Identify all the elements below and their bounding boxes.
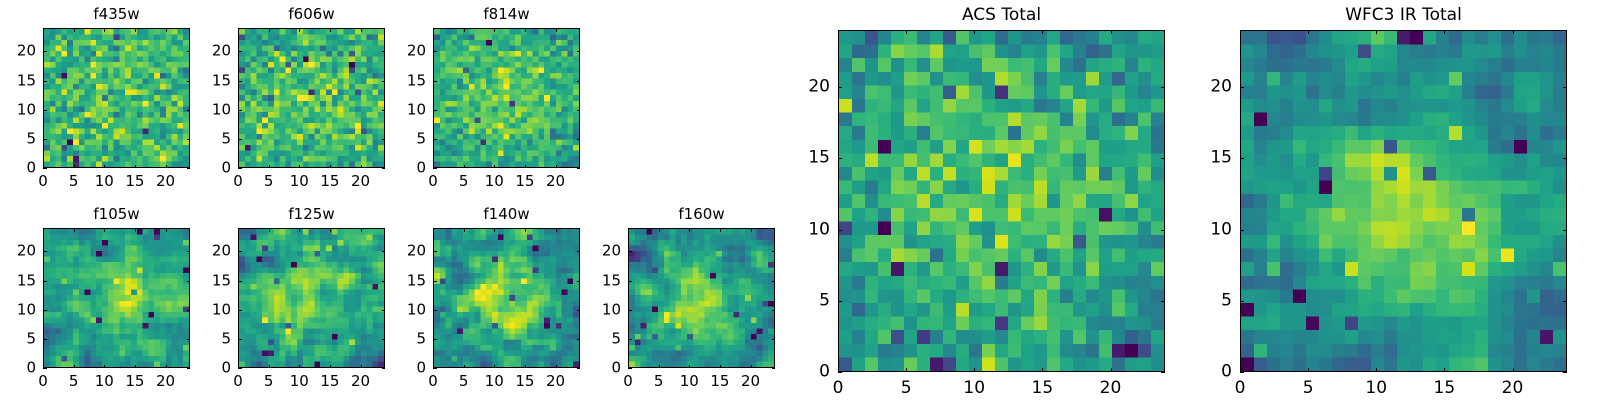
x-tick-label: 5: [1303, 380, 1314, 397]
panel-title: f125w: [238, 207, 385, 222]
y-tick-label: 5: [3, 331, 36, 346]
heatmap-image: [44, 29, 189, 167]
y-tick-mark: [1161, 372, 1165, 373]
y-tick-mark: [1563, 372, 1567, 373]
y-tick-label: 5: [792, 292, 830, 309]
x-tick-label: 10: [290, 374, 309, 389]
y-tick-label: 5: [1194, 292, 1232, 309]
y-tick-mark: [238, 139, 242, 140]
x-tick-mark: [464, 228, 465, 232]
y-tick-mark: [433, 310, 437, 311]
y-tick-mark: [187, 368, 191, 369]
x-tick-mark: [628, 365, 629, 369]
x-tick-mark: [330, 28, 331, 32]
x-tick-label: 15: [710, 374, 729, 389]
x-tick-label: 15: [320, 174, 339, 189]
y-tick-label: 10: [3, 302, 36, 317]
x-tick-label: 15: [320, 374, 339, 389]
x-tick-mark: [433, 165, 434, 169]
y-tick-mark: [238, 339, 242, 340]
y-tick-mark: [772, 281, 776, 282]
x-tick-mark: [689, 228, 690, 232]
x-tick-label: 20: [1502, 380, 1524, 397]
x-tick-mark: [838, 368, 839, 372]
y-tick-mark: [433, 110, 437, 111]
y-tick-mark: [433, 281, 437, 282]
y-tick-mark: [187, 251, 191, 252]
y-tick-mark: [187, 339, 191, 340]
y-tick-mark: [628, 281, 632, 282]
y-tick-mark: [187, 139, 191, 140]
x-tick-mark: [166, 28, 167, 32]
y-tick-mark: [1240, 158, 1244, 159]
x-tick-mark: [689, 365, 690, 369]
x-tick-label: 0: [623, 374, 633, 389]
heatmap-image: [44, 229, 189, 367]
y-tick-mark: [238, 168, 242, 169]
x-tick-label: 10: [1365, 380, 1387, 397]
x-tick-label: 15: [1434, 380, 1456, 397]
panel-f435w: f435w0510152005101520: [0, 0, 1600, 400]
y-tick-label: 0: [198, 161, 231, 176]
x-tick-mark: [1444, 30, 1445, 34]
x-tick-label: 5: [69, 374, 79, 389]
x-tick-mark: [464, 365, 465, 369]
y-tick-mark: [43, 139, 47, 140]
y-tick-mark: [433, 339, 437, 340]
y-tick-label: 10: [198, 102, 231, 117]
y-tick-label: 5: [393, 131, 426, 146]
y-tick-mark: [1240, 372, 1244, 373]
x-tick-mark: [1308, 368, 1309, 372]
x-tick-mark: [135, 365, 136, 369]
x-tick-mark: [74, 228, 75, 232]
x-tick-label: 20: [351, 174, 370, 189]
x-tick-mark: [525, 228, 526, 232]
panel-title: f435w: [43, 7, 190, 22]
x-tick-mark: [1376, 30, 1377, 34]
y-tick-mark: [838, 372, 842, 373]
x-tick-label: 0: [38, 374, 48, 389]
x-tick-label: 0: [38, 174, 48, 189]
y-tick-mark: [238, 251, 242, 252]
x-tick-label: 20: [156, 174, 175, 189]
x-tick-mark: [74, 365, 75, 369]
x-tick-mark: [659, 228, 660, 232]
y-tick-mark: [1563, 230, 1567, 231]
x-tick-label: 0: [428, 374, 438, 389]
y-tick-mark: [772, 368, 776, 369]
y-tick-mark: [43, 339, 47, 340]
y-tick-mark: [382, 110, 386, 111]
y-tick-label: 0: [393, 161, 426, 176]
x-tick-label: 15: [125, 174, 144, 189]
x-tick-mark: [1240, 368, 1241, 372]
x-tick-mark: [1444, 368, 1445, 372]
y-tick-mark: [1161, 301, 1165, 302]
x-tick-mark: [135, 228, 136, 232]
x-tick-mark: [269, 228, 270, 232]
x-tick-mark: [628, 228, 629, 232]
x-tick-mark: [43, 165, 44, 169]
y-tick-mark: [382, 51, 386, 52]
x-tick-mark: [974, 368, 975, 372]
y-tick-label: 5: [198, 331, 231, 346]
y-tick-label: 20: [3, 44, 36, 59]
y-tick-mark: [772, 339, 776, 340]
plot-area: [1240, 30, 1567, 372]
y-tick-mark: [577, 368, 581, 369]
x-tick-mark: [74, 165, 75, 169]
x-tick-mark: [494, 28, 495, 32]
panel-f140w: f140w0510152005101520: [0, 0, 1600, 400]
x-tick-mark: [104, 365, 105, 369]
x-tick-label: 0: [1235, 380, 1246, 397]
y-tick-label: 15: [198, 273, 231, 288]
y-tick-label: 10: [1194, 221, 1232, 238]
y-tick-mark: [1563, 87, 1567, 88]
x-tick-label: 5: [264, 174, 274, 189]
y-tick-label: 10: [3, 102, 36, 117]
x-tick-mark: [1111, 368, 1112, 372]
x-tick-mark: [433, 28, 434, 32]
y-tick-label: 20: [393, 244, 426, 259]
y-tick-mark: [433, 168, 437, 169]
x-tick-mark: [238, 28, 239, 32]
x-tick-mark: [464, 165, 465, 169]
y-tick-mark: [772, 310, 776, 311]
y-tick-label: 15: [588, 273, 621, 288]
x-tick-mark: [238, 365, 239, 369]
y-tick-mark: [577, 110, 581, 111]
x-tick-mark: [974, 30, 975, 34]
x-tick-mark: [1376, 368, 1377, 372]
y-tick-label: 15: [1194, 150, 1232, 167]
x-tick-mark: [1513, 368, 1514, 372]
x-tick-mark: [330, 165, 331, 169]
x-tick-mark: [556, 228, 557, 232]
x-tick-mark: [135, 28, 136, 32]
y-tick-mark: [1240, 301, 1244, 302]
x-tick-mark: [330, 228, 331, 232]
x-tick-mark: [433, 365, 434, 369]
plot-area: [43, 28, 190, 168]
y-tick-mark: [1240, 87, 1244, 88]
y-tick-mark: [433, 81, 437, 82]
x-tick-mark: [299, 28, 300, 32]
y-tick-label: 15: [3, 273, 36, 288]
y-tick-mark: [238, 51, 242, 52]
y-tick-label: 20: [198, 44, 231, 59]
x-tick-mark: [361, 365, 362, 369]
y-tick-mark: [1563, 158, 1567, 159]
y-tick-mark: [187, 81, 191, 82]
y-tick-mark: [43, 251, 47, 252]
x-tick-mark: [525, 28, 526, 32]
panel-wfc3-ir-total: WFC3 IR Total0510152005101520: [0, 0, 1600, 400]
y-tick-mark: [628, 339, 632, 340]
y-tick-mark: [1161, 87, 1165, 88]
y-tick-label: 0: [3, 161, 36, 176]
y-tick-mark: [1161, 158, 1165, 159]
panel-f814w: f814w0510152005101520: [0, 0, 1600, 400]
x-tick-mark: [43, 365, 44, 369]
x-tick-label: 0: [833, 380, 844, 397]
y-tick-mark: [43, 310, 47, 311]
x-tick-mark: [104, 228, 105, 232]
panel-title: ACS Total: [838, 7, 1165, 24]
y-tick-label: 15: [3, 73, 36, 88]
x-tick-label: 15: [1032, 380, 1054, 397]
y-tick-mark: [382, 168, 386, 169]
x-tick-mark: [269, 28, 270, 32]
y-tick-mark: [1240, 230, 1244, 231]
x-tick-label: 10: [95, 374, 114, 389]
x-tick-mark: [720, 365, 721, 369]
plot-area: [433, 28, 580, 168]
panel-f606w: f606w0510152005101520: [0, 0, 1600, 400]
x-tick-mark: [104, 165, 105, 169]
y-tick-mark: [433, 139, 437, 140]
x-tick-label: 20: [741, 374, 760, 389]
y-tick-mark: [838, 158, 842, 159]
x-tick-mark: [464, 28, 465, 32]
x-tick-mark: [43, 228, 44, 232]
x-tick-mark: [299, 228, 300, 232]
y-tick-label: 20: [393, 44, 426, 59]
y-tick-label: 10: [792, 221, 830, 238]
x-tick-mark: [906, 368, 907, 372]
x-tick-label: 5: [654, 374, 664, 389]
y-tick-label: 20: [1194, 79, 1232, 96]
x-tick-mark: [135, 165, 136, 169]
x-tick-label: 10: [485, 374, 504, 389]
y-tick-label: 0: [3, 361, 36, 376]
panel-f125w: f125w0510152005101520: [0, 0, 1600, 400]
x-tick-label: 15: [515, 174, 534, 189]
x-tick-label: 10: [680, 374, 699, 389]
y-tick-mark: [187, 281, 191, 282]
x-tick-mark: [361, 28, 362, 32]
y-tick-mark: [433, 51, 437, 52]
x-tick-label: 20: [1100, 380, 1122, 397]
x-tick-mark: [166, 165, 167, 169]
y-tick-mark: [382, 368, 386, 369]
x-tick-mark: [433, 228, 434, 232]
y-tick-label: 15: [393, 73, 426, 88]
x-tick-mark: [361, 228, 362, 232]
y-tick-mark: [238, 368, 242, 369]
y-tick-label: 10: [198, 302, 231, 317]
panel-title: f814w: [433, 7, 580, 22]
x-tick-label: 5: [264, 374, 274, 389]
x-tick-mark: [556, 28, 557, 32]
y-tick-label: 15: [393, 273, 426, 288]
x-tick-label: 10: [95, 174, 114, 189]
x-tick-mark: [269, 365, 270, 369]
y-tick-mark: [628, 368, 632, 369]
x-tick-mark: [1240, 30, 1241, 34]
x-tick-mark: [556, 165, 557, 169]
y-tick-mark: [187, 168, 191, 169]
x-tick-mark: [166, 365, 167, 369]
x-tick-mark: [494, 228, 495, 232]
y-tick-mark: [577, 51, 581, 52]
x-tick-mark: [659, 365, 660, 369]
heatmap-image: [1241, 31, 1566, 371]
y-tick-label: 5: [3, 131, 36, 146]
y-tick-label: 5: [198, 131, 231, 146]
x-tick-mark: [238, 165, 239, 169]
y-tick-label: 20: [792, 79, 830, 96]
y-tick-mark: [238, 281, 242, 282]
x-tick-label: 5: [459, 374, 469, 389]
y-tick-label: 0: [393, 361, 426, 376]
y-tick-mark: [628, 251, 632, 252]
y-tick-label: 10: [393, 102, 426, 117]
x-tick-mark: [361, 165, 362, 169]
x-tick-mark: [1513, 30, 1514, 34]
x-tick-label: 5: [901, 380, 912, 397]
x-tick-mark: [1308, 30, 1309, 34]
x-tick-mark: [1111, 30, 1112, 34]
y-tick-label: 20: [3, 244, 36, 259]
y-tick-mark: [43, 81, 47, 82]
y-tick-mark: [433, 251, 437, 252]
y-tick-mark: [1563, 301, 1567, 302]
x-tick-label: 15: [515, 374, 534, 389]
y-tick-mark: [838, 87, 842, 88]
x-tick-mark: [330, 365, 331, 369]
x-tick-mark: [299, 165, 300, 169]
y-tick-mark: [577, 281, 581, 282]
x-tick-mark: [525, 365, 526, 369]
y-tick-label: 10: [393, 302, 426, 317]
y-tick-mark: [382, 139, 386, 140]
x-tick-mark: [494, 165, 495, 169]
panel-title: f140w: [433, 207, 580, 222]
x-tick-mark: [556, 365, 557, 369]
figure-canvas: f435w0510152005101520f606w05101520051015…: [0, 0, 1600, 400]
panel-title: f606w: [238, 7, 385, 22]
x-tick-mark: [1042, 30, 1043, 34]
panel-title: f160w: [628, 207, 775, 222]
y-tick-mark: [577, 139, 581, 140]
x-tick-mark: [838, 30, 839, 34]
y-tick-mark: [382, 310, 386, 311]
heatmap-image: [239, 229, 384, 367]
y-tick-label: 20: [588, 244, 621, 259]
y-tick-mark: [628, 310, 632, 311]
plot-area: [238, 228, 385, 368]
x-tick-label: 0: [428, 174, 438, 189]
y-tick-label: 0: [588, 361, 621, 376]
y-tick-mark: [382, 281, 386, 282]
y-tick-mark: [187, 310, 191, 311]
x-tick-label: 10: [963, 380, 985, 397]
y-tick-label: 20: [198, 244, 231, 259]
y-tick-mark: [238, 310, 242, 311]
x-tick-label: 10: [485, 174, 504, 189]
y-tick-mark: [382, 251, 386, 252]
y-tick-mark: [1161, 230, 1165, 231]
y-tick-label: 5: [588, 331, 621, 346]
x-tick-mark: [74, 28, 75, 32]
x-tick-mark: [299, 365, 300, 369]
x-tick-label: 10: [290, 174, 309, 189]
x-tick-label: 5: [459, 174, 469, 189]
x-tick-label: 20: [156, 374, 175, 389]
y-tick-mark: [43, 51, 47, 52]
y-tick-mark: [577, 168, 581, 169]
x-tick-label: 15: [125, 374, 144, 389]
panel-title: f105w: [43, 207, 190, 222]
x-tick-label: 20: [546, 374, 565, 389]
y-tick-mark: [187, 110, 191, 111]
x-tick-mark: [269, 165, 270, 169]
x-tick-label: 20: [351, 374, 370, 389]
y-tick-mark: [577, 310, 581, 311]
heatmap-image: [434, 229, 579, 367]
x-tick-mark: [751, 228, 752, 232]
y-tick-label: 10: [588, 302, 621, 317]
y-tick-mark: [577, 81, 581, 82]
panel-acs-total: ACS Total0510152005101520: [0, 0, 1600, 400]
x-tick-mark: [525, 165, 526, 169]
x-tick-mark: [43, 28, 44, 32]
plot-area: [433, 228, 580, 368]
y-tick-mark: [187, 51, 191, 52]
y-tick-label: 15: [792, 150, 830, 167]
plot-area: [238, 28, 385, 168]
y-tick-mark: [43, 368, 47, 369]
y-tick-label: 15: [198, 73, 231, 88]
y-tick-label: 0: [792, 364, 830, 381]
y-tick-mark: [433, 368, 437, 369]
y-tick-label: 5: [393, 331, 426, 346]
y-tick-mark: [43, 281, 47, 282]
x-tick-mark: [494, 365, 495, 369]
panel-title: WFC3 IR Total: [1240, 7, 1567, 24]
y-tick-mark: [577, 251, 581, 252]
heatmap-image: [434, 29, 579, 167]
heatmap-image: [839, 31, 1164, 371]
y-tick-mark: [577, 339, 581, 340]
y-tick-label: 0: [198, 361, 231, 376]
y-tick-mark: [838, 301, 842, 302]
y-tick-mark: [772, 251, 776, 252]
y-tick-mark: [43, 168, 47, 169]
x-tick-label: 0: [233, 374, 243, 389]
x-tick-mark: [906, 30, 907, 34]
x-tick-label: 20: [546, 174, 565, 189]
plot-area: [838, 30, 1165, 372]
plot-area: [628, 228, 775, 368]
y-tick-mark: [838, 230, 842, 231]
panel-f105w: f105w0510152005101520: [0, 0, 1600, 400]
plot-area: [43, 228, 190, 368]
y-tick-mark: [238, 81, 242, 82]
y-tick-mark: [238, 110, 242, 111]
x-tick-label: 5: [69, 174, 79, 189]
x-tick-mark: [104, 28, 105, 32]
y-tick-label: 0: [1194, 364, 1232, 381]
x-tick-mark: [720, 228, 721, 232]
x-tick-mark: [166, 228, 167, 232]
y-tick-mark: [43, 110, 47, 111]
panel-f160w: f160w0510152005101520: [0, 0, 1600, 400]
x-tick-mark: [1042, 368, 1043, 372]
